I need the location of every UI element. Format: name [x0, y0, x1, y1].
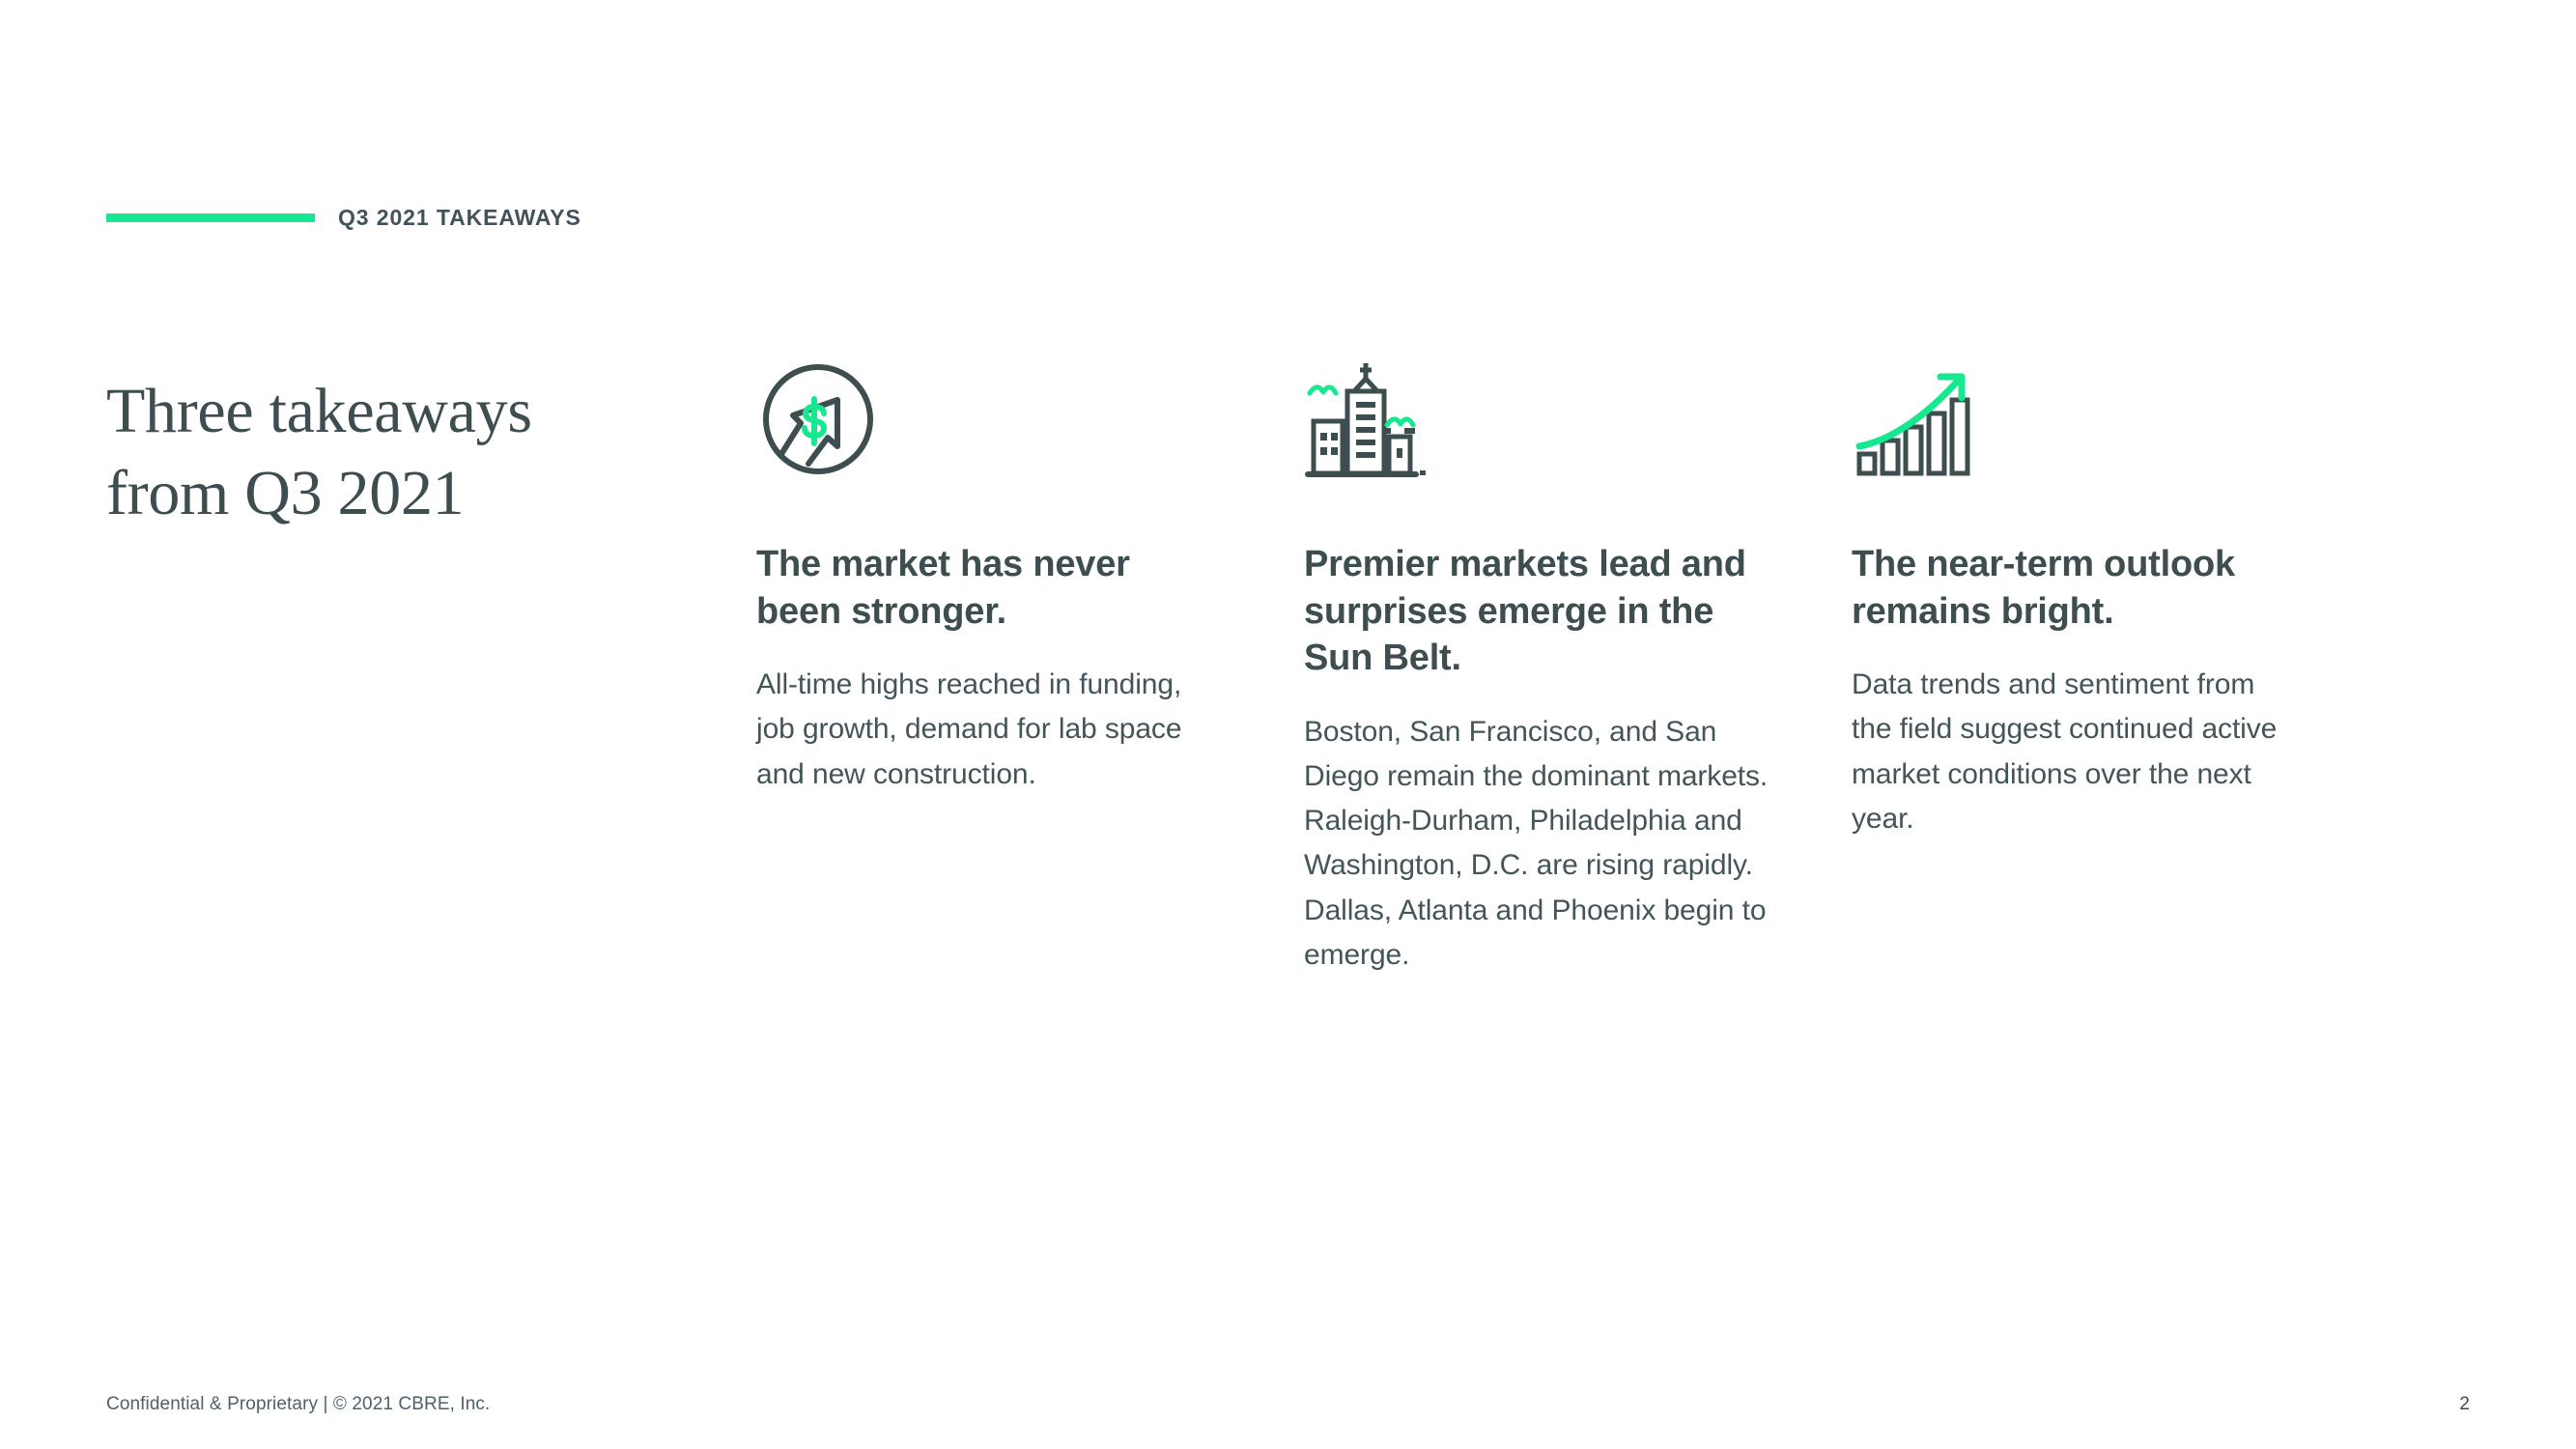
page-number: 2 — [2459, 1394, 2470, 1415]
city-skyline-icon — [1304, 355, 1758, 481]
takeaway-body-2: Boston, San Francisco, and San Diego rem… — [1304, 710, 1769, 978]
page-title: Three takeaways from Q3 2021 — [106, 371, 647, 534]
takeaway-heading-1: The market has never been stronger. — [756, 541, 1201, 635]
takeaway-column-2: Premier markets lead and surprises emerg… — [1304, 355, 1758, 978]
dollar-arrow-circle-icon — [756, 355, 1210, 481]
takeaway-heading-2: Premier markets lead and surprises emerg… — [1304, 541, 1750, 682]
takeaway-heading-3: The near-term outlook remains bright. — [1852, 541, 2306, 635]
takeaway-body-1: All-time highs reached in funding, job g… — [756, 663, 1193, 797]
takeaway-body-3: Data trends and sentiment from the field… — [1852, 663, 2296, 841]
takeaway-columns: The market has never been stronger. All-… — [756, 355, 2456, 978]
eyebrow: Q3 2021 TAKEAWAYS — [106, 205, 581, 231]
slide: Q3 2021 TAKEAWAYS Three takeaways from Q… — [0, 0, 2576, 1449]
growth-bar-chart-icon — [1852, 355, 2306, 481]
footer-confidentiality: Confidential & Proprietary | © 2021 CBRE… — [106, 1394, 490, 1415]
takeaway-column-1: The market has never been stronger. All-… — [756, 355, 1210, 978]
eyebrow-label: Q3 2021 TAKEAWAYS — [338, 205, 581, 231]
eyebrow-rule — [106, 213, 315, 222]
takeaway-column-3: The near-term outlook remains bright. Da… — [1852, 355, 2306, 978]
